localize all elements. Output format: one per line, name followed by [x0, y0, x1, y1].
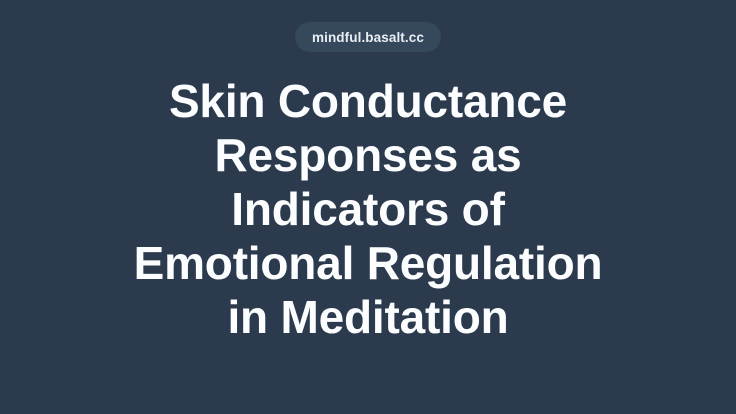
title-line: in Meditation	[48, 290, 688, 344]
title-line: Indicators of	[48, 182, 688, 236]
page-title: Skin Conductance Responses as Indicators…	[48, 74, 688, 344]
title-line: Skin Conductance	[48, 74, 688, 128]
title-line: Emotional Regulation	[48, 236, 688, 290]
open-graph-card: mindful.basalt.cc Skin Conductance Respo…	[0, 0, 736, 414]
domain-badge: mindful.basalt.cc	[295, 22, 441, 52]
title-line: Responses as	[48, 128, 688, 182]
